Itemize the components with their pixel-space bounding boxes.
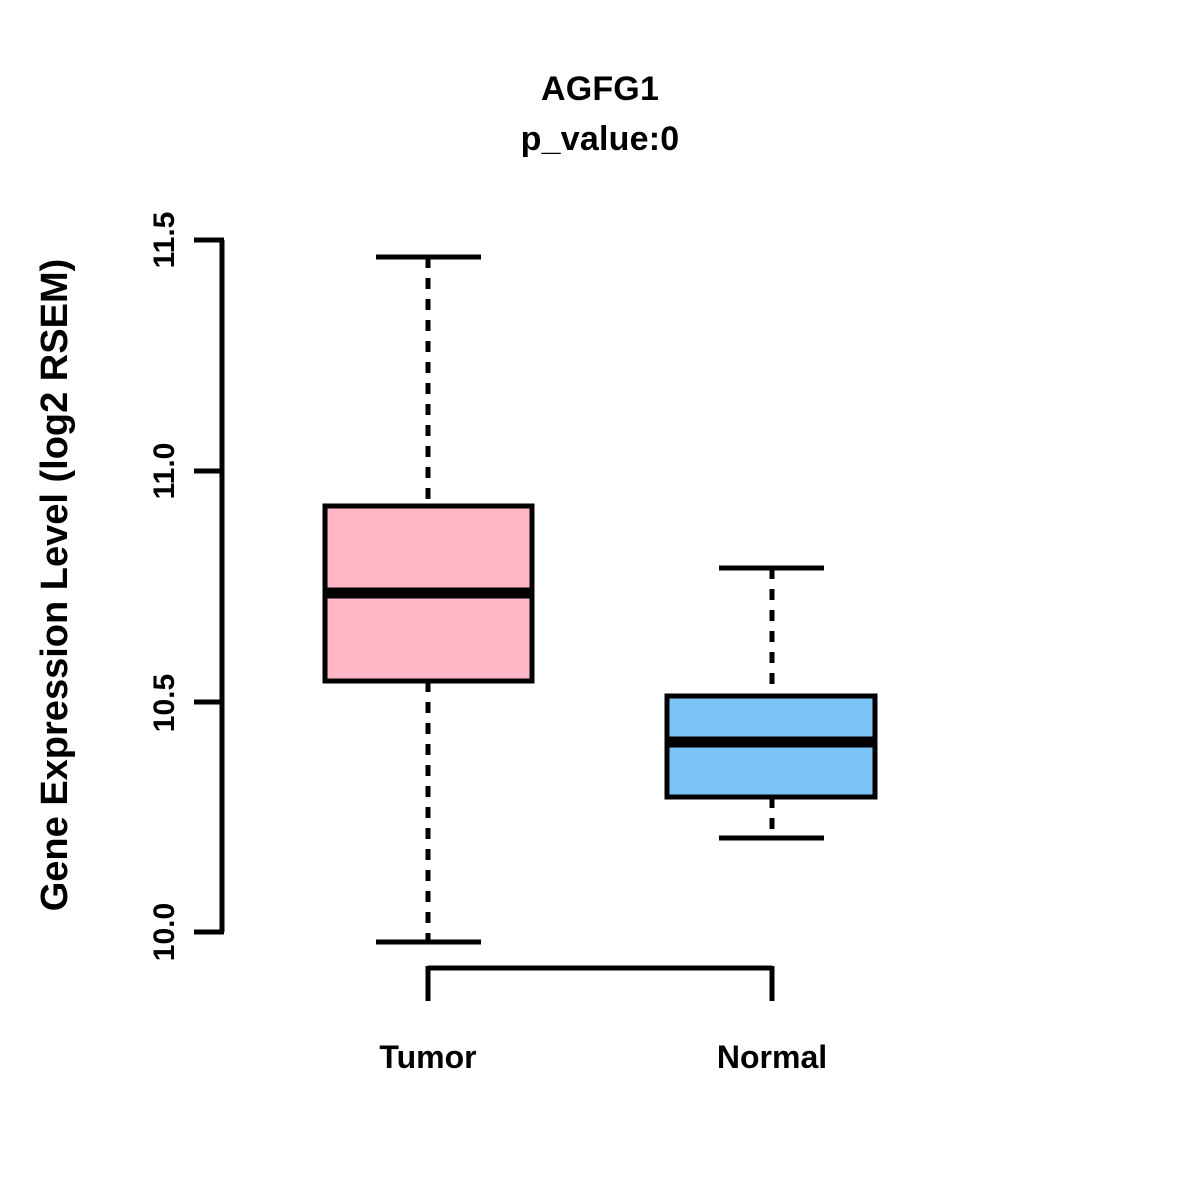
boxplot-figure: AGFG1 p_value:0 Gene Expression Level (l…: [0, 0, 1200, 1200]
box-normal: [665, 568, 877, 838]
box-tumor: [323, 257, 534, 942]
x-tick-label-normal: Normal: [622, 1038, 922, 1076]
x-tick-label-tumor: Tumor: [278, 1038, 578, 1076]
plot-canvas: [0, 0, 1200, 1200]
y-axis: [194, 240, 224, 932]
x-axis: [428, 966, 772, 1001]
